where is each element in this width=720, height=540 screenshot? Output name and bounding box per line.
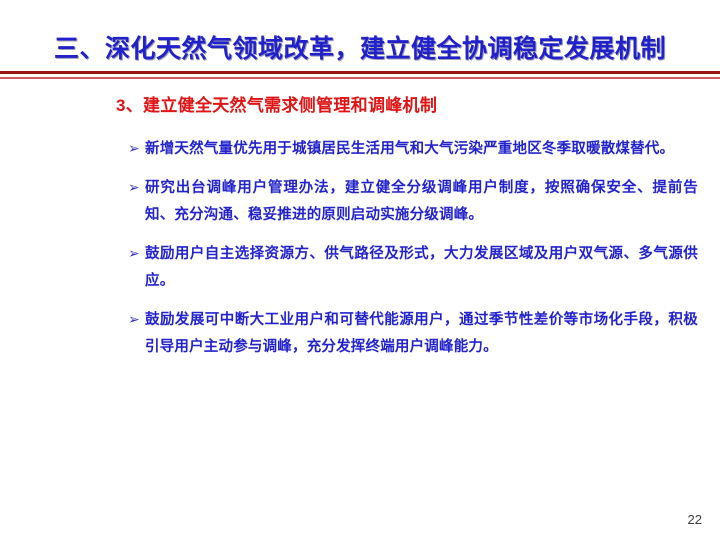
page-number: 22 [688,512,702,528]
title-block: 三、深化天然气领域改革，建立健全协调稳定发展机制 [0,32,720,66]
list-item-text: 新增天然气量优先用于城镇居民生活用气和大气污染严重地区冬季取暖散煤替代。 [145,136,698,163]
arrow-bullet-icon: ➢ [128,241,142,268]
list-item: ➢ 新增天然气量优先用于城镇居民生活用气和大气污染严重地区冬季取暖散煤替代。 [128,136,698,163]
page-title: 三、深化天然气领域改革，建立健全协调稳定发展机制 [54,32,666,66]
list-item: ➢ 鼓励发展可中断大工业用户和可替代能源用户，通过季节性差价等市场化手段，积极引… [128,307,698,361]
divider-rule-thin [0,77,720,79]
list-item-text: 研究出台调峰用户管理办法，建立健全分级调峰用户制度，按照确保安全、提前告知、充分… [145,175,698,229]
section-subtitle: 3、建立健全天然气需求侧管理和调峰机制 [116,94,437,118]
divider-rule-thick [0,71,720,74]
list-item: ➢ 研究出台调峰用户管理办法，建立健全分级调峰用户制度，按照确保安全、提前告知、… [128,175,698,229]
list-item-text: 鼓励发展可中断大工业用户和可替代能源用户，通过季节性差价等市场化手段，积极引导用… [145,307,698,361]
bullet-list: ➢ 新增天然气量优先用于城镇居民生活用气和大气污染严重地区冬季取暖散煤替代。 ➢… [128,136,698,361]
arrow-bullet-icon: ➢ [128,136,142,163]
arrow-bullet-icon: ➢ [128,175,142,202]
list-item: ➢ 鼓励用户自主选择资源方、供气路径及形式，大力发展区域及用户双气源、多气源供应… [128,241,698,295]
list-item-text: 鼓励用户自主选择资源方、供气路径及形式，大力发展区域及用户双气源、多气源供应。 [145,241,698,295]
arrow-bullet-icon: ➢ [128,307,142,334]
slide-canvas: 三、深化天然气领域改革，建立健全协调稳定发展机制 3、建立健全天然气需求侧管理和… [0,0,720,540]
